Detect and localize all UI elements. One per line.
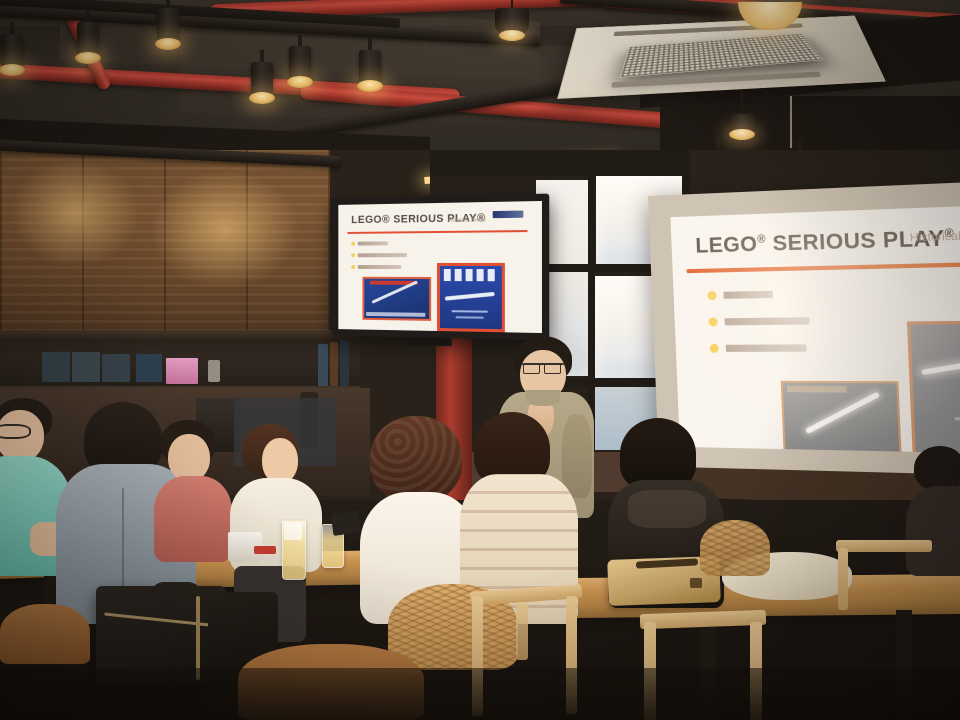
slide-bullet-text bbox=[725, 317, 810, 325]
red-tray-item bbox=[254, 546, 276, 554]
presenter-arm-right bbox=[562, 414, 592, 498]
slide-title-lego: LEGO bbox=[695, 232, 758, 257]
slide-subtitle: Historical Events bbox=[910, 229, 960, 245]
shelf-canister bbox=[208, 360, 220, 382]
tv-bullet-text bbox=[358, 265, 401, 269]
slide-divider-rule bbox=[686, 262, 960, 274]
attendee-face bbox=[168, 434, 210, 482]
tv-slide: LEGO® SERIOUS PLAY® Historical Events bbox=[338, 201, 542, 333]
wood-panel-wall bbox=[0, 150, 330, 350]
photo-scene: LEGO® SERIOUS PLAY® Historical Events bbox=[0, 0, 960, 720]
shelf-item bbox=[102, 354, 130, 382]
shelf-item-pink bbox=[166, 358, 198, 384]
attendee-top bbox=[906, 486, 960, 576]
projected-slide: LEGO® SERIOUS PLAY® Historical Events bbox=[670, 205, 960, 453]
presenter-glasses-lens-right bbox=[544, 363, 561, 374]
chair-backrest bbox=[0, 604, 90, 664]
presenter-glasses-lens-left bbox=[523, 363, 540, 374]
slide-bullet-text bbox=[723, 291, 772, 299]
tv-bullet-text bbox=[358, 253, 407, 257]
tv-slide-image-shuttle bbox=[362, 277, 431, 321]
tablet-device bbox=[331, 510, 362, 536]
iced-drink-ice-1 bbox=[284, 522, 302, 540]
tv-bullet-dot bbox=[351, 253, 355, 257]
attendee-curly-hair bbox=[370, 416, 462, 502]
shelf-book-stack bbox=[340, 340, 349, 386]
attendee-hair bbox=[914, 446, 960, 490]
rattan-chair-far-right bbox=[700, 520, 770, 576]
projection-screen-surface: LEGO® SERIOUS PLAY® Historical Events bbox=[670, 205, 960, 453]
shelf-item bbox=[42, 352, 70, 382]
presenter-collar bbox=[526, 390, 560, 406]
slide-image-shuttle bbox=[781, 381, 903, 454]
attendee-top bbox=[154, 476, 232, 562]
ac-grille bbox=[619, 33, 823, 78]
tv-slide-subtitle: Historical Events bbox=[449, 217, 486, 224]
shelf-book-stack bbox=[318, 344, 328, 386]
foreground-shadow bbox=[0, 668, 960, 720]
attendee-sheer-panel bbox=[628, 490, 706, 528]
shelf-item bbox=[136, 354, 162, 382]
shelf-board-top bbox=[0, 330, 360, 339]
tv-slide-image-time-cover bbox=[437, 263, 505, 332]
slide-bullet-dot bbox=[710, 344, 719, 353]
tv-bullet-dot bbox=[351, 265, 355, 269]
shelf-book-stack bbox=[330, 342, 338, 386]
chair-splat bbox=[516, 602, 528, 660]
shelf-item bbox=[72, 352, 100, 382]
ac-drain-cord bbox=[790, 96, 792, 148]
chair-top-rail bbox=[836, 540, 932, 552]
attendee-glasses-icon bbox=[0, 424, 31, 439]
tv-bullet-dot bbox=[351, 242, 355, 246]
tv-screen: LEGO® SERIOUS PLAY® Historical Events bbox=[338, 201, 542, 333]
slide-bullet-dot bbox=[707, 291, 716, 300]
slide-bullet-dot bbox=[708, 317, 717, 326]
backpack-handle bbox=[150, 582, 202, 601]
handbag-clasp-icon bbox=[690, 578, 702, 588]
chair-stile bbox=[838, 548, 848, 610]
tv-monitor: LEGO® SERIOUS PLAY® Historical Events bbox=[332, 194, 549, 341]
tv-slide-rule bbox=[348, 230, 528, 234]
slide-image-time-cover bbox=[907, 320, 960, 453]
tv-bullet-text bbox=[358, 241, 388, 245]
company-logo-icon bbox=[493, 211, 524, 219]
window-header bbox=[430, 150, 690, 176]
slide-bullet-text bbox=[726, 344, 807, 352]
